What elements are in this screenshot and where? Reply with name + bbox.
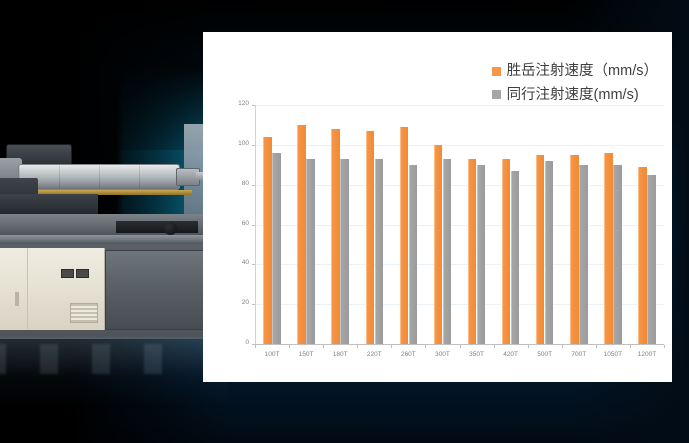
x-axis-tick-mark xyxy=(630,345,631,348)
x-axis-tick-mark xyxy=(357,345,358,348)
chart-bar xyxy=(434,145,443,344)
chart-bar xyxy=(502,159,511,344)
y-axis-tick-label: 100 xyxy=(225,141,249,148)
y-axis-line xyxy=(255,105,256,345)
legend-item-series-2: 同行注射速度(mm/s) xyxy=(492,88,658,103)
chart-bar xyxy=(272,153,281,344)
chart-gridline xyxy=(255,145,664,146)
x-axis-tick-mark xyxy=(425,345,426,348)
y-axis-tick-label: 20 xyxy=(225,300,249,307)
chart-bar xyxy=(579,165,588,344)
chart-bar xyxy=(570,155,579,344)
machine-cabinet-button-right xyxy=(76,269,89,278)
legend-swatch-gray xyxy=(492,90,501,99)
machine-floor-reflection xyxy=(0,338,228,408)
chart-bar xyxy=(511,171,520,344)
chart-bar xyxy=(366,131,375,344)
chart-bar xyxy=(263,137,272,344)
chart-bar xyxy=(647,175,656,344)
machine-knob xyxy=(164,222,177,235)
y-axis-tick-label: 0 xyxy=(225,340,249,347)
x-axis-tick-mark xyxy=(494,345,495,348)
x-axis-tick-mark xyxy=(255,345,256,348)
chart-bar xyxy=(340,159,349,344)
chart-bar xyxy=(477,165,486,344)
chart-bar xyxy=(375,159,384,344)
x-axis-tick-mark xyxy=(323,345,324,348)
chart-panel: 020406080100120100T150T180T220T260T300T3… xyxy=(203,32,672,382)
y-axis-tick-label: 80 xyxy=(225,181,249,188)
machine-tray xyxy=(116,221,198,233)
x-axis-tick-mark xyxy=(289,345,290,348)
y-axis-tick-label: 120 xyxy=(225,101,249,108)
injection-molding-machine-photo xyxy=(0,118,228,378)
x-axis-tick-mark xyxy=(664,345,665,348)
x-axis-tick-mark xyxy=(528,345,529,348)
machine-cabinet-label xyxy=(15,292,19,306)
chart-bar xyxy=(443,159,452,344)
chart-legend: 胜岳注射速度（mm/s） 同行注射速度(mm/s) xyxy=(492,64,658,111)
x-axis-tick-mark xyxy=(391,345,392,348)
chart-bar xyxy=(331,129,340,344)
legend-label-series-2: 同行注射速度(mm/s) xyxy=(507,88,639,103)
y-axis-tick-label: 40 xyxy=(225,260,249,267)
chart-bar xyxy=(613,165,622,344)
x-axis-tick-mark xyxy=(596,345,597,348)
machine-barrel xyxy=(18,164,180,190)
chart-bar xyxy=(545,161,554,344)
screenshot-stage: 020406080100120100T150T180T220T260T300T3… xyxy=(0,0,689,443)
chart-gridline xyxy=(255,264,664,265)
machine-cabinet-vent xyxy=(70,303,98,323)
x-axis-tick-label: 1200T xyxy=(627,352,667,359)
x-axis-tick-mark xyxy=(562,345,563,348)
machine-cabinet-button-left xyxy=(61,269,74,278)
chart-bar xyxy=(638,167,647,344)
chart-gridline xyxy=(255,304,664,305)
legend-label-series-1: 胜岳注射速度（mm/s） xyxy=(507,64,658,79)
y-axis-tick-label: 60 xyxy=(225,221,249,228)
chart-bar xyxy=(409,165,418,344)
chart-bar xyxy=(400,127,409,344)
chart-bar xyxy=(297,125,306,344)
chart-bar xyxy=(604,153,613,344)
legend-item-series-1: 胜岳注射速度（mm/s） xyxy=(492,64,658,79)
legend-swatch-orange xyxy=(492,67,501,76)
x-axis-tick-mark xyxy=(460,345,461,348)
machine-base-ledge xyxy=(0,235,228,244)
chart-bar xyxy=(468,159,477,344)
chart-bar xyxy=(306,159,315,344)
chart-bar xyxy=(536,155,545,344)
chart-gridline xyxy=(255,185,664,186)
machine-safety-guard xyxy=(105,250,212,330)
chart-gridline xyxy=(255,225,664,226)
machine-control-cabinet xyxy=(0,248,105,330)
